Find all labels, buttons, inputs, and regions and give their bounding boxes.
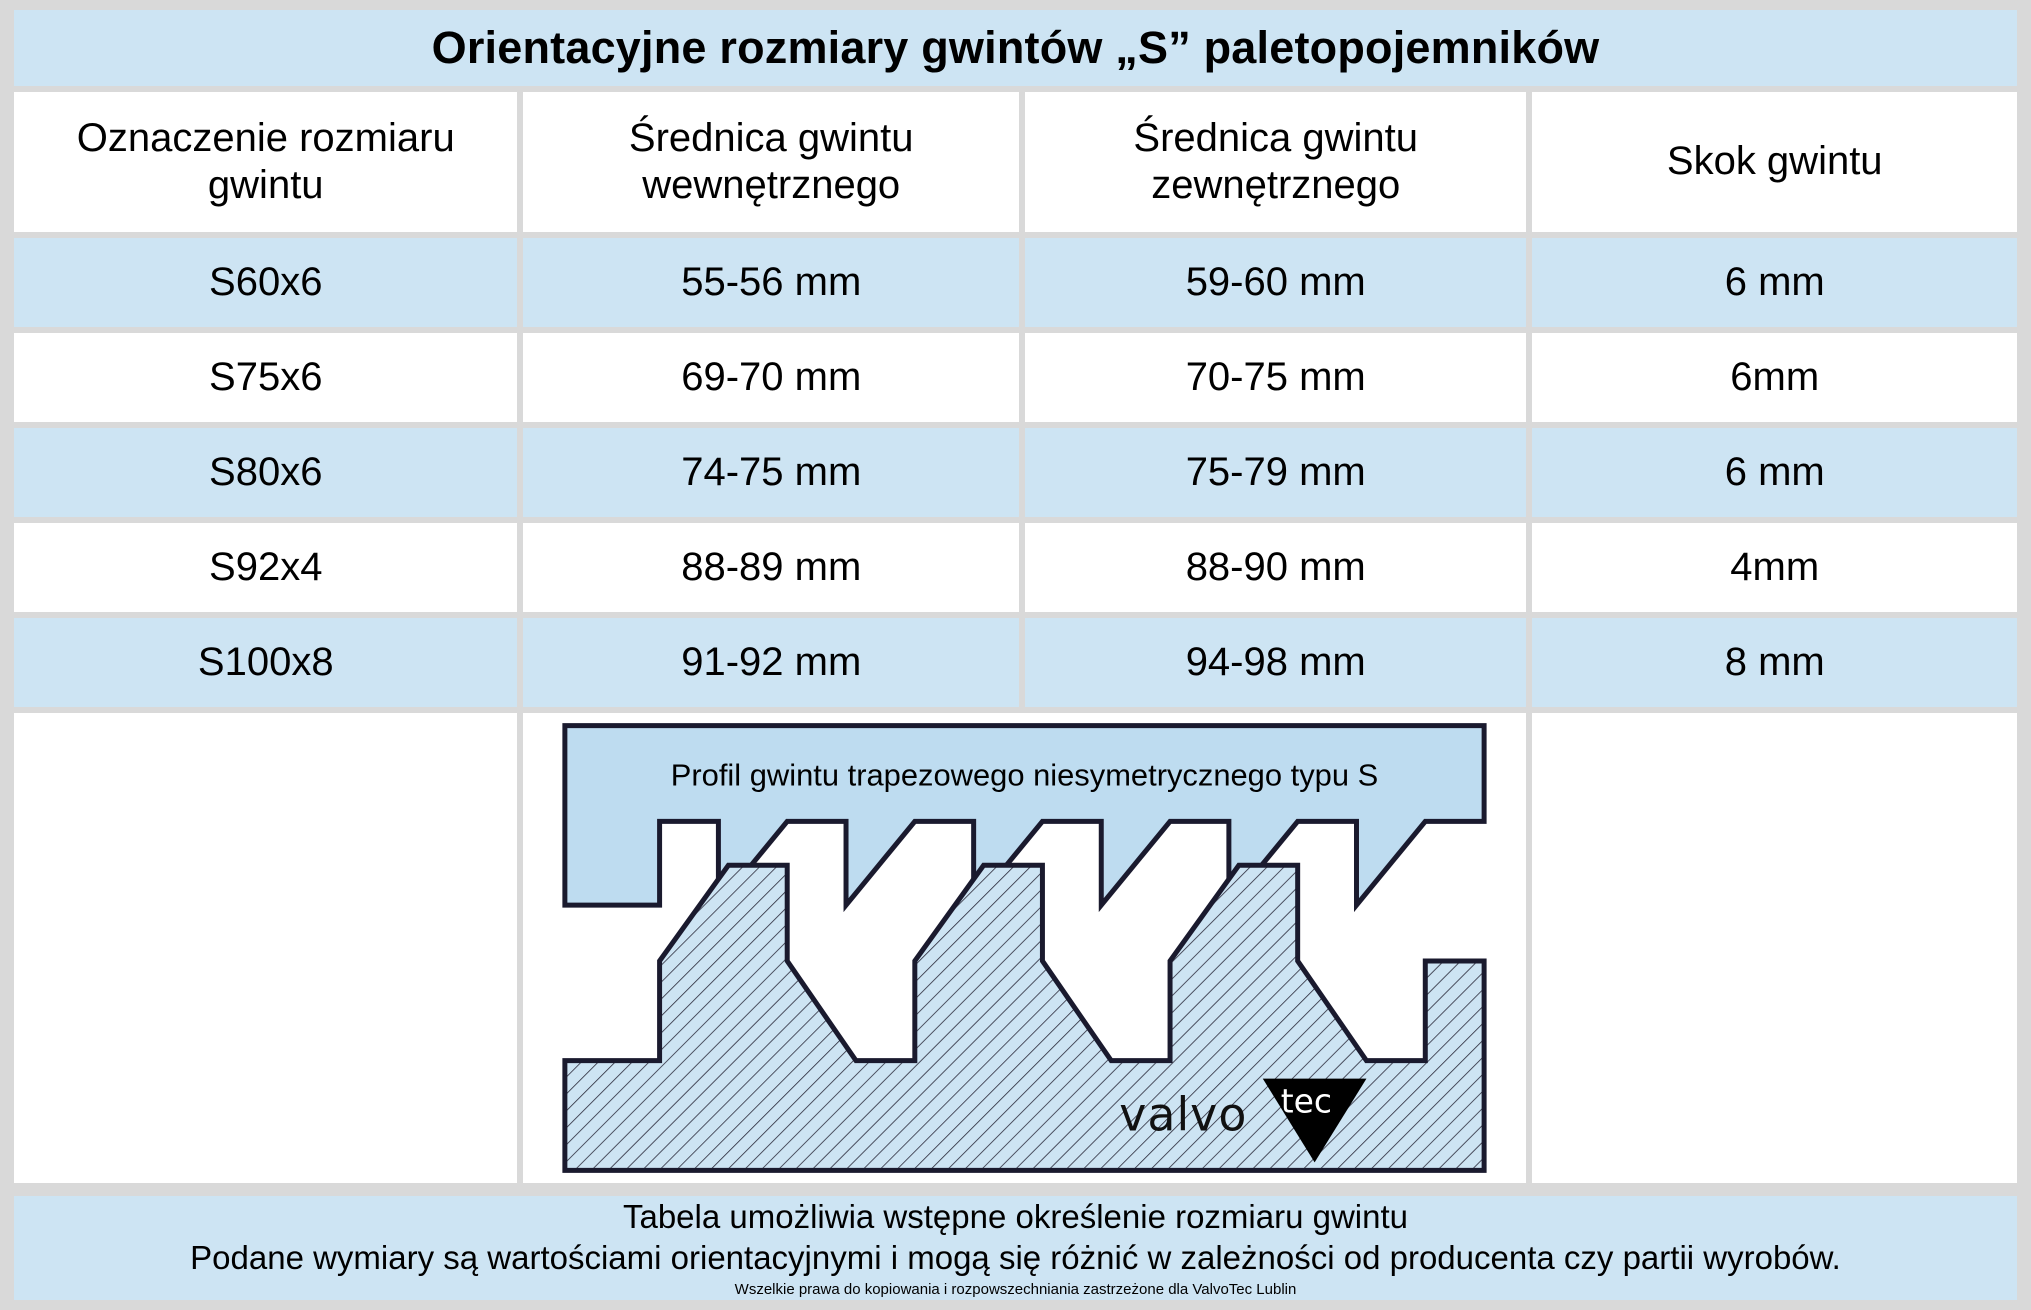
thread-table: Oznaczenie rozmiaru gwintu Średnica gwin… <box>14 92 2017 1189</box>
column-header-outer-diameter: Średnica gwintu zewnętrznego <box>1025 92 1526 232</box>
column-header-outer-diameter-line1: Średnica gwintu <box>1133 115 1418 162</box>
thread-profile-figure: Profil gwintu trapezowego niesymetryczne… <box>523 713 1526 1183</box>
table-row: S80x6 74-75 mm 75-79 mm 6 mm <box>14 428 2017 517</box>
cell-pitch: 6 mm <box>1532 428 2017 517</box>
cell-designation: S92x4 <box>14 523 517 612</box>
cell-inner-diameter: 74-75 mm <box>523 428 1019 517</box>
cell-inner-diameter: 69-70 mm <box>523 333 1019 422</box>
table-header-row: Oznaczenie rozmiaru gwintu Średnica gwin… <box>14 92 2017 232</box>
column-header-inner-diameter: Średnica gwintu wewnętrznego <box>523 92 1019 232</box>
footer-line-2: Podane wymiary są wartościami orientacyj… <box>190 1239 1841 1278</box>
logo-tec-text: tec <box>1281 1082 1332 1121</box>
cell-inner-diameter: 55-56 mm <box>523 238 1019 327</box>
column-header-inner-diameter-line1: Średnica gwintu <box>629 115 914 162</box>
cell-pitch: 6mm <box>1532 333 2017 422</box>
table-row: S92x4 88-89 mm 88-90 mm 4mm <box>14 523 2017 612</box>
column-header-designation-line2: gwintu <box>77 162 455 209</box>
footer-note: Tabela umożliwia wstępne określenie rozm… <box>14 1196 2017 1300</box>
logo-wordmark: valvo <box>1120 1087 1248 1141</box>
column-header-designation-line1: Oznaczenie rozmiaru <box>77 115 455 162</box>
cell-inner-diameter: 91-92 mm <box>523 618 1019 707</box>
cell-inner-diameter: 88-89 mm <box>523 523 1019 612</box>
footer-copyright: Wszelkie prawa do kopiowania i rozpowsze… <box>735 1281 1297 1298</box>
column-header-designation: Oznaczenie rozmiaru gwintu <box>14 92 517 232</box>
page-title: Orientacyjne rozmiary gwintów „S” paleto… <box>432 22 1600 74</box>
cell-designation: S80x6 <box>14 428 517 517</box>
figure-row-empty-right <box>1532 713 2017 1183</box>
column-header-outer-diameter-line2: zewnętrznego <box>1133 162 1418 209</box>
figure-caption: Profil gwintu trapezowego niesymetryczne… <box>671 757 1378 792</box>
column-header-pitch: Skok gwintu <box>1532 92 2017 232</box>
page-title-banner: Orientacyjne rozmiary gwintów „S” paleto… <box>14 10 2017 86</box>
thread-profile-drawing: Profil gwintu trapezowego niesymetryczne… <box>523 713 1526 1183</box>
cell-outer-diameter: 94-98 mm <box>1025 618 1526 707</box>
cell-outer-diameter: 88-90 mm <box>1025 523 1526 612</box>
thread-size-table-sheet: Orientacyjne rozmiary gwintów „S” paleto… <box>0 0 2031 1310</box>
cell-outer-diameter: 59-60 mm <box>1025 238 1526 327</box>
column-header-inner-diameter-line2: wewnętrznego <box>629 162 914 209</box>
cell-designation: S75x6 <box>14 333 517 422</box>
cell-pitch: 6 mm <box>1532 238 2017 327</box>
figure-row-empty-left <box>14 713 517 1183</box>
table-row: S75x6 69-70 mm 70-75 mm 6mm <box>14 333 2017 422</box>
table-figure-row: Profil gwintu trapezowego niesymetryczne… <box>14 713 2017 1183</box>
male-thread-profile <box>565 865 1484 1170</box>
table-row: S100x8 91-92 mm 94-98 mm 8 mm <box>14 618 2017 707</box>
cell-outer-diameter: 70-75 mm <box>1025 333 1526 422</box>
cell-designation: S100x8 <box>14 618 517 707</box>
cell-pitch: 8 mm <box>1532 618 2017 707</box>
table-row: S60x6 55-56 mm 59-60 mm 6 mm <box>14 238 2017 327</box>
footer-line-1: Tabela umożliwia wstępne określenie rozm… <box>623 1198 1408 1237</box>
column-header-pitch-line1: Skok gwintu <box>1667 138 1883 185</box>
cell-pitch: 4mm <box>1532 523 2017 612</box>
cell-outer-diameter: 75-79 mm <box>1025 428 1526 517</box>
cell-designation: S60x6 <box>14 238 517 327</box>
